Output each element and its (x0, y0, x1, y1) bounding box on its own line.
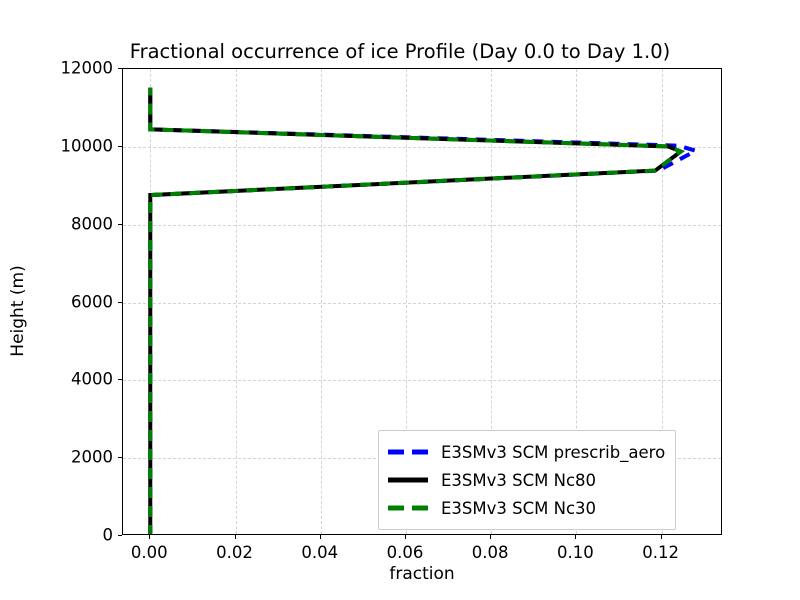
legend-label-2: E3SMv3 SCM Nc30 (441, 499, 596, 518)
y-tick-label-4: 8000 (71, 214, 113, 233)
legend: E3SMv3 SCM prescrib_aeroE3SMv3 SCM Nc80E… (378, 430, 676, 530)
legend-swatch-icon-2 (387, 498, 429, 518)
x-tick-label-6: 0.12 (642, 543, 679, 562)
y-tick-label-6: 12000 (61, 59, 114, 78)
y-tick-label-2: 4000 (71, 370, 113, 389)
y-tick-mark-5 (118, 146, 122, 147)
y-tick-label-5: 10000 (61, 136, 114, 155)
x-tick-label-0: 0.00 (131, 543, 168, 562)
x-tick-mark-5 (575, 535, 576, 539)
legend-swatch-icon-1 (387, 470, 429, 490)
x-tick-mark-3 (405, 535, 406, 539)
x-tick-label-4: 0.08 (472, 543, 509, 562)
x-tick-mark-1 (235, 535, 236, 539)
page-title: Fractional occurrence of ice Profile (Da… (0, 40, 800, 63)
x-tick-mark-0 (149, 535, 150, 539)
y-tick-label-0: 0 (103, 526, 114, 545)
x-tick-mark-2 (320, 535, 321, 539)
x-tick-mark-6 (661, 535, 662, 539)
y-tick-mark-2 (118, 379, 122, 380)
y-tick-mark-4 (118, 224, 122, 225)
x-axis-label: fraction (122, 564, 722, 584)
y-tick-mark-3 (118, 302, 122, 303)
y-tick-mark-1 (118, 457, 122, 458)
x-tick-label-3: 0.06 (387, 543, 424, 562)
y-tick-mark-6 (118, 68, 122, 69)
legend-label-0: E3SMv3 SCM prescrib_aero (441, 443, 665, 462)
y-tick-label-3: 6000 (71, 292, 113, 311)
legend-item-0[interactable]: E3SMv3 SCM prescrib_aero (387, 438, 665, 466)
legend-label-1: E3SMv3 SCM Nc80 (441, 471, 596, 490)
y-tick-label-1: 2000 (71, 448, 113, 467)
legend-item-1[interactable]: E3SMv3 SCM Nc80 (387, 466, 665, 494)
legend-swatch-icon-0 (387, 442, 429, 462)
y-axis-label: Height (m) (8, 231, 28, 391)
x-tick-label-2: 0.04 (301, 543, 338, 562)
legend-item-2[interactable]: E3SMv3 SCM Nc30 (387, 494, 665, 522)
y-tick-mark-0 (118, 535, 122, 536)
x-tick-mark-4 (490, 535, 491, 539)
x-tick-label-1: 0.02 (216, 543, 253, 562)
figure-canvas: Fractional occurrence of ice Profile (Da… (0, 0, 800, 600)
x-tick-label-5: 0.10 (557, 543, 594, 562)
